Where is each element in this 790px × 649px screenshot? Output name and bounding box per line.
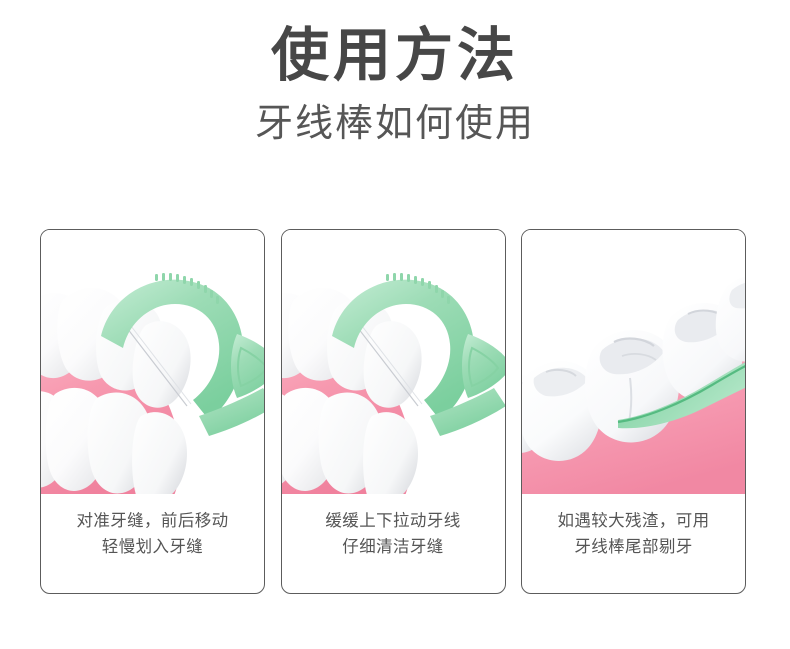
caption-line: 缓缓上下拉动牙线 [325,509,460,535]
step-card-2-caption: 缓缓上下拉动牙线 仔细清洁牙缝 [282,494,505,593]
caption-line: 如遇较大残渣，可用 [557,509,709,535]
page-title: 使用方法 [0,0,790,89]
page-header: 使用方法 牙线棒如何使用 [0,0,790,146]
pick-tail-between-molars-illustration [522,230,745,494]
use-instructions-page: 使用方法 牙线棒如何使用 [0,0,790,649]
step-card-1-caption: 对准牙缝，前后移动 轻慢划入牙缝 [41,494,264,593]
page-subtitle: 牙线棒如何使用 [0,89,790,146]
step-card-3: 如遇较大残渣，可用 牙线棒尾部剔牙 [521,229,746,594]
caption-line: 仔细清洁牙缝 [342,535,443,561]
caption-line: 牙线棒尾部剔牙 [574,535,692,561]
floss-pick-pulling-floss-illustration [282,230,505,494]
steps-card-row: 对准牙缝，前后移动 轻慢划入牙缝 [40,229,746,594]
caption-line: 轻慢划入牙缝 [102,535,203,561]
caption-line: 对准牙缝，前后移动 [76,509,228,535]
step-card-1: 对准牙缝，前后移动 轻慢划入牙缝 [40,229,265,594]
step-card-2: 缓缓上下拉动牙线 仔细清洁牙缝 [281,229,506,594]
step-card-3-caption: 如遇较大残渣，可用 牙线棒尾部剔牙 [522,494,745,593]
floss-pick-between-front-teeth-illustration [41,230,264,494]
